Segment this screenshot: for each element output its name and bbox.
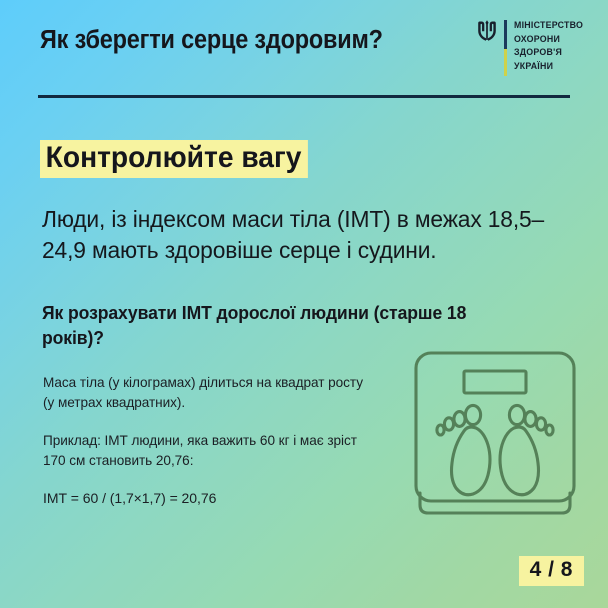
logo-divider-bar — [504, 20, 507, 76]
bathroom-scale-icon — [408, 345, 588, 535]
ukraine-trident-icon — [477, 20, 497, 42]
header-divider — [38, 95, 570, 98]
bmi-definition-text: Маса тіла (у кілограмах) ділиться на ква… — [43, 373, 373, 413]
section-heading-text: Контролюйте вагу — [40, 140, 308, 178]
page-title: Як зберегти серце здоровим? — [40, 26, 383, 55]
infographic-poster: Як зберегти серце здоровим? МІНІСТЕРСТВО… — [0, 0, 608, 608]
ministry-line-1: МІНІСТЕРСТВО — [514, 20, 583, 30]
page-indicator: 4 / 8 — [519, 556, 584, 586]
ministry-line-2: ОХОРОНИ — [514, 34, 560, 44]
ministry-line-4: УКРАЇНИ — [514, 61, 553, 71]
section-heading: Контролюйте вагу — [40, 140, 325, 178]
bmi-example-text: Приклад: ІМТ людини, яка важить 60 кг і … — [43, 431, 383, 471]
ministry-logo: МІНІСТЕРСТВО ОХОРОНИ ЗДОРОВ'Я УКРАЇНИ — [477, 19, 586, 76]
poster-header: Як зберегти серце здоровим? МІНІСТЕРСТВО… — [0, 0, 608, 96]
bmi-formula-text: ІМТ = 60 / (1,7×1,7) = 20,76 — [43, 488, 363, 508]
ministry-logo-text: МІНІСТЕРСТВО ОХОРОНИ ЗДОРОВ'Я УКРАЇНИ — [514, 19, 583, 73]
ministry-line-3: ЗДОРОВ'Я — [514, 47, 562, 57]
question-subheading: Як розрахувати ІМТ дорослої людини (стар… — [42, 300, 479, 350]
lede-paragraph: Люди, із індексом маси тіла (ІМТ) в межа… — [42, 204, 546, 266]
